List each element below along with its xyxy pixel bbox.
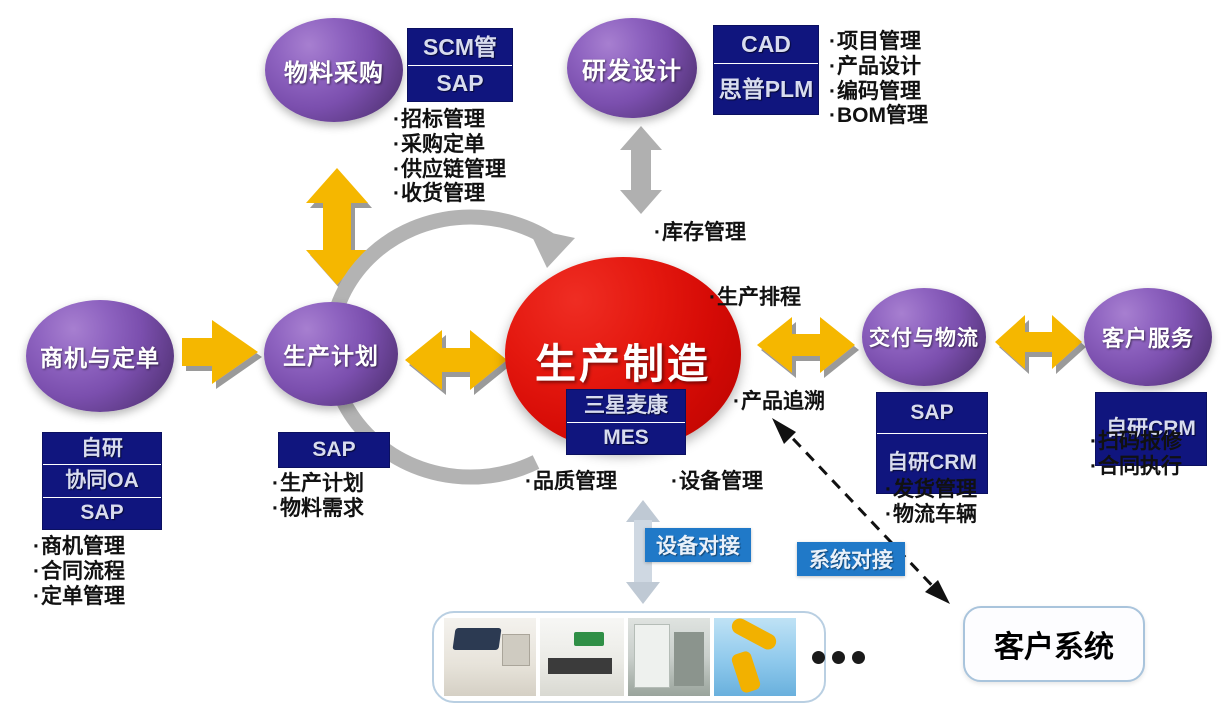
bullets-delivery-logistics: 发货管理 物流车辆 bbox=[885, 478, 977, 528]
systembox-manufacturing[interactable]: 三星麦康 MES bbox=[566, 389, 686, 455]
systembox-rd-design[interactable]: CAD 思普PLM bbox=[713, 25, 819, 115]
tag-equipment-interface-label: 设备对接 bbox=[656, 530, 740, 560]
bullet-item: 定单管理 bbox=[33, 585, 125, 610]
systembox-row: SAP bbox=[43, 498, 161, 529]
node-material-purchase[interactable]: 物料采购 bbox=[265, 18, 403, 122]
bullet-item: 合同流程 bbox=[33, 560, 125, 585]
bullet-item: 扫码报修 bbox=[1090, 430, 1182, 455]
arrow-rd-vertical bbox=[620, 126, 662, 214]
systembox-row: 三星麦康 bbox=[567, 390, 685, 423]
bullet-item: 发货管理 bbox=[885, 478, 977, 503]
systembox-row: 自研 bbox=[43, 433, 161, 465]
systembox-row: SAP bbox=[408, 66, 512, 102]
bullet-item: 产品设计 bbox=[829, 55, 928, 80]
bullets-material-purchase: 招标管理 采购定单 供应链管理 收货管理 bbox=[393, 108, 506, 207]
node-opportunity-order[interactable]: 商机与定单 bbox=[26, 300, 174, 412]
systembox-row: CAD bbox=[714, 26, 818, 64]
robot-arm-image bbox=[714, 618, 796, 696]
core-label-scheduling: 生产排程 bbox=[709, 281, 801, 311]
bullets-production-plan: 生产计划 物料需求 bbox=[272, 472, 364, 522]
node-customer-service[interactable]: 客户服务 bbox=[1084, 288, 1212, 386]
node-delivery-logistics-label: 交付与物流 bbox=[869, 322, 979, 352]
bullet-item: 收货管理 bbox=[393, 182, 506, 207]
bullet-item: 生产计划 bbox=[272, 472, 364, 497]
bullet-item: 商机管理 bbox=[33, 535, 125, 560]
node-opportunity-order-label: 商机与定单 bbox=[40, 339, 160, 373]
systembox-row: 协同OA bbox=[43, 465, 161, 497]
bullet-item: 物流车辆 bbox=[885, 503, 977, 528]
bullet-item: 物料需求 bbox=[272, 497, 364, 522]
core-label-inventory: 库存管理 bbox=[654, 216, 746, 246]
systembox-row: MES bbox=[567, 423, 685, 455]
systembox-row: SCM管 bbox=[408, 29, 512, 66]
machine-image-3 bbox=[628, 618, 710, 696]
core-label-quality: 品质管理 bbox=[525, 465, 617, 495]
bullet-item: 招标管理 bbox=[393, 108, 506, 133]
bullet-item: 编码管理 bbox=[829, 80, 928, 105]
node-delivery-logistics[interactable]: 交付与物流 bbox=[862, 288, 986, 386]
node-rd-design-label: 研发设计 bbox=[582, 51, 682, 86]
arrow-manufacturing-delivery bbox=[757, 317, 855, 373]
external-customer-system[interactable]: 客户系统 bbox=[963, 606, 1145, 682]
node-customer-service-label: 客户服务 bbox=[1102, 321, 1194, 353]
tag-system-interface-label: 系统对接 bbox=[809, 544, 893, 574]
node-production-plan-label: 生产计划 bbox=[283, 337, 379, 371]
bullet-item: 供应链管理 bbox=[393, 158, 506, 183]
diagram-canvas: 物料采购 SCM管 SAP 招标管理 采购定单 供应链管理 收货管理 研发设计 … bbox=[0, 0, 1222, 717]
bullet-item: 采购定单 bbox=[393, 133, 506, 158]
external-customer-system-label: 客户系统 bbox=[994, 622, 1114, 666]
bullet-item: 项目管理 bbox=[829, 30, 928, 55]
node-rd-design[interactable]: 研发设计 bbox=[567, 18, 697, 118]
arrow-plan-manufacturing bbox=[405, 330, 507, 390]
bullets-customer-service: 扫码报修 合同执行 bbox=[1090, 430, 1182, 480]
core-label-traceability: 产品追溯 bbox=[733, 385, 825, 415]
systembox-row: 思普PLM bbox=[714, 64, 818, 114]
bullets-rd-design: 项目管理 产品设计 编码管理 BOM管理 bbox=[829, 30, 928, 129]
machine-image-2 bbox=[540, 618, 624, 696]
tag-system-interface[interactable]: 系统对接 bbox=[797, 542, 905, 576]
bullets-opportunity-order: 商机管理 合同流程 定单管理 bbox=[33, 535, 125, 609]
systembox-material-purchase[interactable]: SCM管 SAP bbox=[407, 28, 513, 102]
systembox-opportunity-order[interactable]: 自研 协同OA SAP bbox=[42, 432, 162, 530]
bullet-item: 合同执行 bbox=[1090, 455, 1182, 480]
node-production-plan[interactable]: 生产计划 bbox=[264, 302, 398, 406]
bullet-item: BOM管理 bbox=[829, 104, 928, 129]
ellipsis-dots-icon bbox=[812, 651, 865, 664]
machine-image-1 bbox=[444, 618, 536, 696]
systembox-row: SAP bbox=[877, 393, 987, 434]
core-label-equipment: 设备管理 bbox=[671, 465, 763, 495]
node-material-purchase-label: 物料采购 bbox=[284, 53, 384, 88]
systembox-production-plan[interactable]: SAP bbox=[278, 432, 390, 468]
systembox-row: SAP bbox=[279, 433, 389, 467]
tag-equipment-interface[interactable]: 设备对接 bbox=[645, 528, 751, 562]
arrow-opportunity-to-plan bbox=[182, 320, 258, 384]
equipment-strip[interactable] bbox=[432, 611, 826, 703]
node-manufacturing-label: 生产制造 bbox=[505, 330, 741, 390]
arrow-delivery-customer bbox=[995, 315, 1082, 369]
